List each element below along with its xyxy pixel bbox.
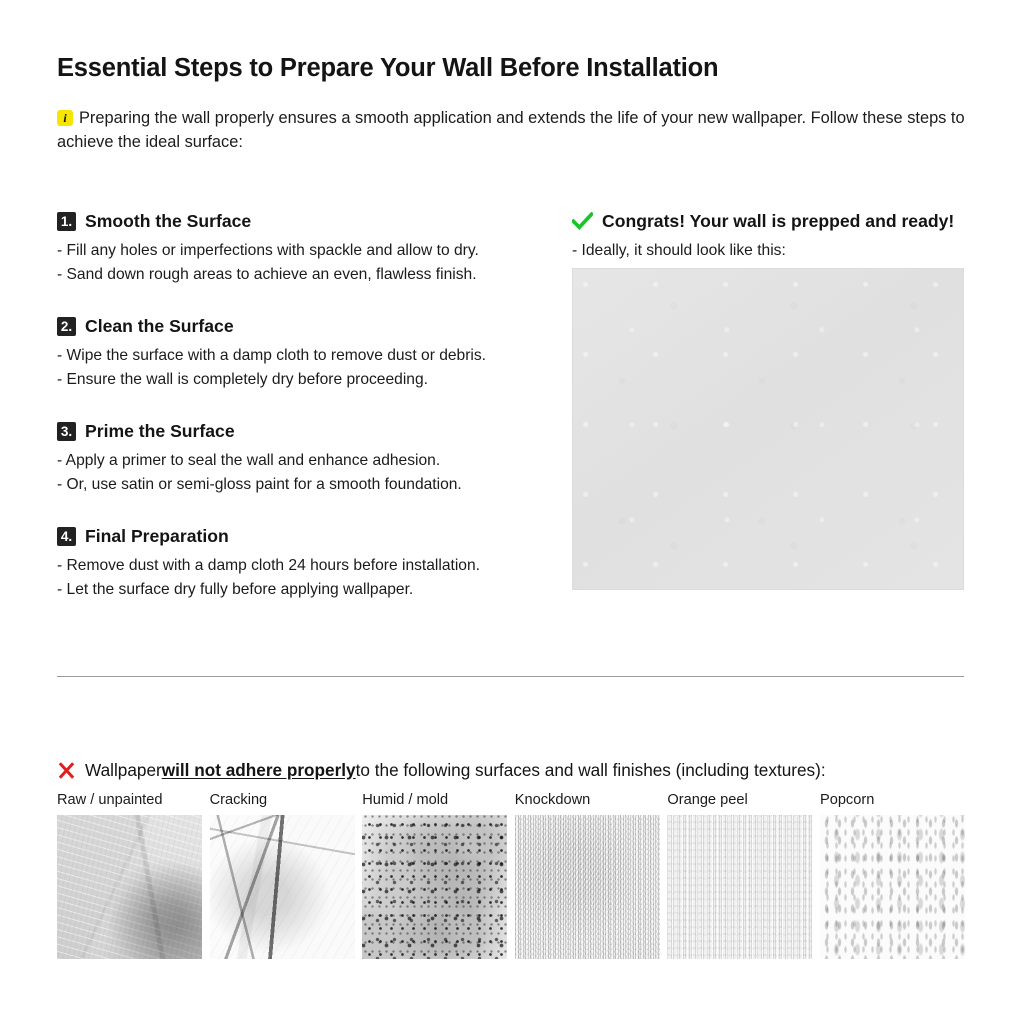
step-heading-row: 1. Smooth the Surface bbox=[57, 210, 547, 232]
step-heading-text: Smooth the Surface bbox=[85, 211, 251, 232]
warning-heading-row: Wallpaper will not adhere properly to th… bbox=[57, 758, 826, 782]
step-heading-row: 4. Final Preparation bbox=[57, 525, 547, 547]
intro-text: Preparing the wall properly ensures a sm… bbox=[57, 109, 965, 151]
bullet-line: - Ensure the wall is completely dry befo… bbox=[57, 368, 547, 392]
success-heading-text: Congrats! Your wall is prepped and ready… bbox=[602, 211, 954, 232]
warning-text-after: to the following surfaces and wall finis… bbox=[356, 760, 826, 781]
step-heading-text: Clean the Surface bbox=[85, 316, 234, 337]
success-subtext: - Ideally, it should look like this: bbox=[572, 239, 972, 263]
bullet-line: - Or, use satin or semi-gloss paint for … bbox=[57, 473, 547, 497]
success-heading-row: Congrats! Your wall is prepped and ready… bbox=[572, 210, 972, 232]
orange-peel-texture-image bbox=[667, 815, 812, 959]
bullet-line: - Wipe the surface with a damp cloth to … bbox=[57, 344, 547, 368]
bad-surface-label: Knockdown bbox=[515, 792, 660, 808]
step-number-badge: 2. bbox=[57, 317, 76, 336]
step-bullets: - Apply a primer to seal the wall and en… bbox=[57, 449, 547, 497]
bad-surface-label: Raw / unpainted bbox=[57, 792, 202, 808]
step-bullets: - Wipe the surface with a damp cloth to … bbox=[57, 344, 547, 392]
bullet-line: - Let the surface dry fully before apply… bbox=[57, 578, 547, 602]
cross-icon bbox=[57, 761, 76, 780]
bad-surface-label: Popcorn bbox=[820, 792, 965, 808]
intro-paragraph: iPreparing the wall properly ensures a s… bbox=[57, 106, 973, 154]
step-bullets: - Remove dust with a damp cloth 24 hours… bbox=[57, 554, 547, 602]
step-item: 4. Final Preparation - Remove dust with … bbox=[57, 525, 547, 602]
raw-unpainted-texture-image bbox=[57, 815, 202, 959]
step-number-badge: 1. bbox=[57, 212, 76, 231]
page-title: Essential Steps to Prepare Your Wall Bef… bbox=[57, 54, 718, 83]
cracking-paint-texture-image bbox=[210, 815, 355, 959]
bullet-line: - Sand down rough areas to achieve an ev… bbox=[57, 263, 547, 287]
check-icon bbox=[572, 212, 593, 230]
wall-prep-guide-page: Essential Steps to Prepare Your Wall Bef… bbox=[0, 0, 1024, 1024]
step-bullets: - Fill any holes or imperfections with s… bbox=[57, 239, 547, 287]
steps-column: 1. Smooth the Surface - Fill any holes o… bbox=[57, 210, 547, 602]
bullet-line: - Apply a primer to seal the wall and en… bbox=[57, 449, 547, 473]
bad-surface-label: Orange peel bbox=[667, 792, 812, 808]
step-number-badge: 3. bbox=[57, 422, 76, 441]
success-column: Congrats! Your wall is prepped and ready… bbox=[572, 210, 972, 263]
bad-surfaces-gallery: Raw / unpainted Cracking Humid / mold Kn… bbox=[57, 792, 967, 959]
bad-surface-label: Cracking bbox=[210, 792, 355, 808]
warning-text-before: Wallpaper bbox=[85, 760, 162, 781]
step-heading-text: Final Preparation bbox=[85, 526, 229, 547]
step-number-badge: 4. bbox=[57, 527, 76, 546]
info-icon: i bbox=[57, 110, 73, 126]
humid-mold-texture-image bbox=[362, 815, 507, 959]
bad-surface-label: Humid / mold bbox=[362, 792, 507, 808]
popcorn-texture-image bbox=[820, 815, 965, 959]
bullet-line: - Remove dust with a damp cloth 24 hours… bbox=[57, 554, 547, 578]
knockdown-texture-image bbox=[515, 815, 660, 959]
step-heading-text: Prime the Surface bbox=[85, 421, 235, 442]
bad-surface-labels: Raw / unpainted Cracking Humid / mold Kn… bbox=[57, 792, 967, 808]
step-item: 2. Clean the Surface - Wipe the surface … bbox=[57, 315, 547, 392]
bad-surface-thumbnails bbox=[57, 815, 967, 959]
step-heading-row: 3. Prime the Surface bbox=[57, 420, 547, 442]
step-heading-row: 2. Clean the Surface bbox=[57, 315, 547, 337]
section-divider bbox=[57, 676, 964, 677]
bullet-line: - Fill any holes or imperfections with s… bbox=[57, 239, 547, 263]
prepped-wall-preview-image bbox=[572, 268, 964, 590]
step-item: 1. Smooth the Surface - Fill any holes o… bbox=[57, 210, 547, 287]
warning-text-emphasis: will not adhere properly bbox=[162, 760, 356, 781]
step-item: 3. Prime the Surface - Apply a primer to… bbox=[57, 420, 547, 497]
